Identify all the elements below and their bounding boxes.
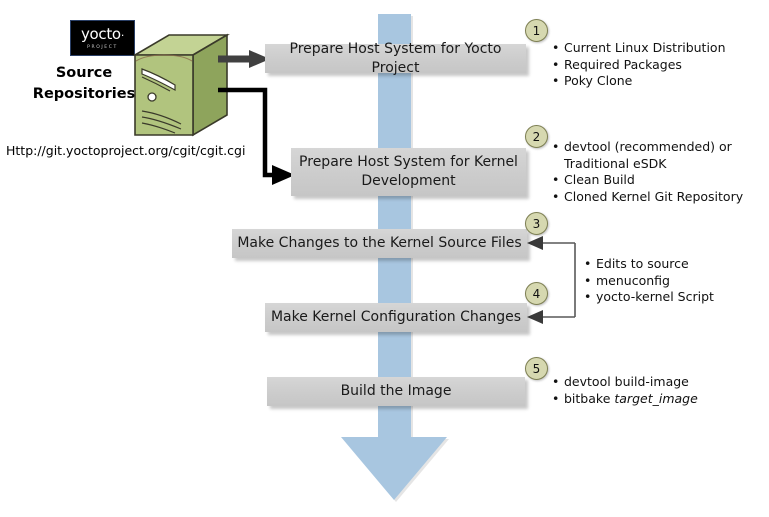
- list-item: Poky Clone: [551, 73, 726, 90]
- step-box-2[interactable]: Prepare Host System for Kernel Developme…: [291, 148, 526, 196]
- list-item: menuconfig: [583, 273, 714, 290]
- step-number-1: 1: [525, 19, 548, 42]
- step-box-5-label: Build the Image: [341, 382, 452, 401]
- list-item: bitbake target_image: [551, 391, 698, 408]
- step-number-2: 2: [525, 125, 548, 148]
- list-item: Clean Build: [551, 172, 743, 189]
- step-box-5[interactable]: Build the Image: [267, 377, 525, 406]
- step-number-2-value: 2: [533, 130, 541, 144]
- step-number-3-value: 3: [533, 217, 541, 231]
- step-5-bullets: devtool build-image bitbake target_image: [551, 374, 698, 407]
- list-item: Required Packages: [551, 57, 726, 74]
- step-1-bullets: Current Linux Distribution Required Pack…: [551, 40, 726, 90]
- list-item-text: bitbake: [564, 391, 614, 406]
- list-item: yocto-kernel Script: [583, 289, 714, 306]
- step-box-3-label: Make Changes to the Kernel Source Files: [237, 234, 521, 253]
- list-item: Edits to source: [583, 256, 714, 273]
- step-number-4-value: 4: [533, 287, 541, 301]
- step-box-3[interactable]: Make Changes to the Kernel Source Files: [232, 229, 527, 258]
- shared-steps-3-4-bullets: Edits to source menuconfig yocto-kernel …: [583, 256, 714, 306]
- step-number-1-value: 1: [533, 24, 541, 38]
- diagram-canvas: yocto· PROJECT Source Repositories Http:…: [0, 0, 769, 517]
- list-item-emphasis: target_image: [614, 391, 697, 406]
- step-number-3: 3: [525, 212, 548, 235]
- step-box-4[interactable]: Make Kernel Configuration Changes: [265, 303, 527, 332]
- step-box-1[interactable]: Prepare Host System for Yocto Project: [265, 44, 526, 73]
- list-item: Cloned Kernel Git Repository: [551, 189, 743, 206]
- step-number-5: 5: [525, 357, 548, 380]
- step-box-4-label: Make Kernel Configuration Changes: [271, 308, 521, 327]
- step-box-1-label: Prepare Host System for Yocto Project: [265, 40, 526, 78]
- list-item: Current Linux Distribution: [551, 40, 726, 57]
- list-item: devtool (recommended) or Traditional eSD…: [551, 139, 743, 172]
- step-box-2-label: Prepare Host System for Kernel Developme…: [291, 153, 526, 191]
- step-number-5-value: 5: [533, 362, 541, 376]
- step-2-bullets: devtool (recommended) or Traditional eSD…: [551, 139, 743, 205]
- list-item: devtool build-image: [551, 374, 698, 391]
- step-number-4: 4: [525, 282, 548, 305]
